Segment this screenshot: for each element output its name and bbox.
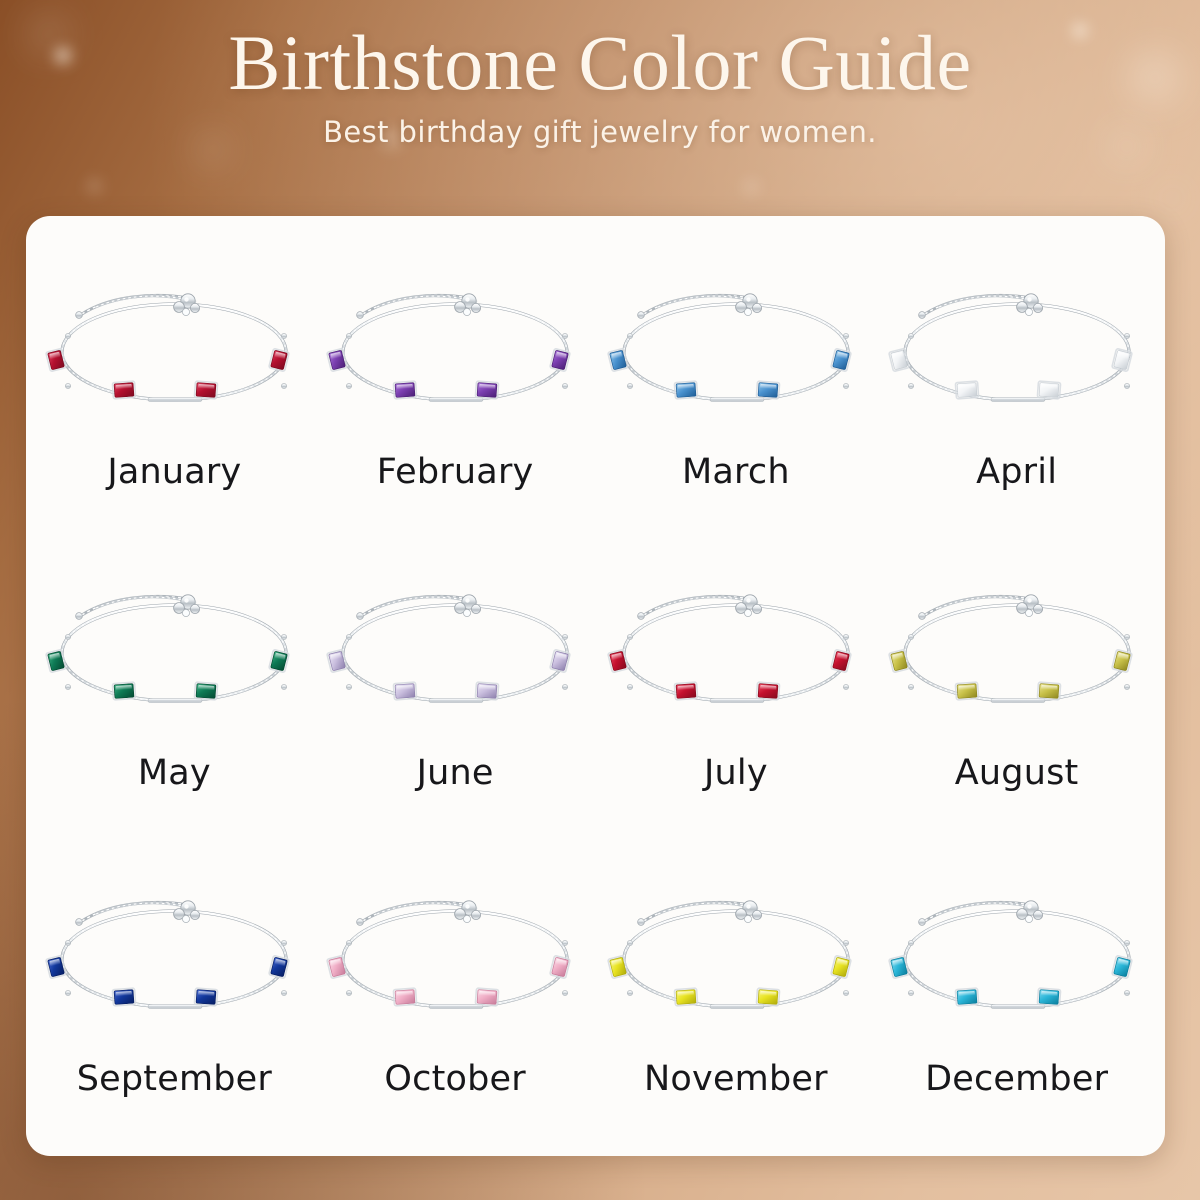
birthstone-color-guide-page: Birthstone Color Guide Best birthday gif… bbox=[0, 0, 1200, 1200]
aquamarine-blue-stone-bracelet-image bbox=[600, 274, 872, 424]
sapphire-blue-stone-bracelet-image bbox=[38, 881, 310, 1031]
birthstone-cell-february[interactable]: February bbox=[315, 230, 596, 535]
birthstone-cell-december[interactable]: December bbox=[876, 841, 1157, 1146]
page-header: Birthstone Color Guide Best birthday gif… bbox=[0, 22, 1200, 149]
month-label: February bbox=[377, 452, 534, 492]
birthstone-cell-march[interactable]: March bbox=[596, 230, 877, 535]
garnet-red-stone-bracelet-image bbox=[38, 274, 310, 424]
month-label: March bbox=[682, 452, 790, 492]
birthstone-cell-september[interactable]: September bbox=[34, 841, 315, 1146]
birthstone-cell-may[interactable]: May bbox=[34, 535, 315, 840]
month-label: January bbox=[107, 452, 241, 492]
page-title: Birthstone Color Guide bbox=[0, 22, 1200, 103]
month-label: August bbox=[955, 753, 1079, 793]
emerald-green-stone-bracelet-image bbox=[38, 575, 310, 725]
birthstone-cell-april[interactable]: April bbox=[876, 230, 1157, 535]
citrine-yellow-stone-bracelet-image bbox=[600, 881, 872, 1031]
month-label: April bbox=[976, 452, 1057, 492]
birthstone-card: JanuaryFebruaryMarchAprilMayJuneJulyAugu… bbox=[26, 216, 1165, 1156]
birthstone-cell-november[interactable]: November bbox=[596, 841, 877, 1146]
month-label: May bbox=[138, 753, 211, 793]
birthstone-cell-january[interactable]: January bbox=[34, 230, 315, 535]
birthstone-cell-august[interactable]: August bbox=[876, 535, 1157, 840]
ruby-red-stone-bracelet-image bbox=[600, 575, 872, 725]
amethyst-purple-stone-bracelet-image bbox=[319, 274, 591, 424]
birthstone-cell-june[interactable]: June bbox=[315, 535, 596, 840]
month-label: June bbox=[417, 753, 494, 793]
birthstone-cell-october[interactable]: October bbox=[315, 841, 596, 1146]
tourmaline-pink-stone-bracelet-image bbox=[319, 881, 591, 1031]
month-label: December bbox=[925, 1059, 1108, 1099]
page-subtitle: Best birthday gift jewelry for women. bbox=[0, 115, 1200, 149]
month-label: July bbox=[704, 753, 768, 793]
month-label: November bbox=[644, 1059, 828, 1099]
diamond-clear-stone-bracelet-image bbox=[881, 274, 1153, 424]
month-label: September bbox=[77, 1059, 272, 1099]
alexandrite-lavender-stone-bracelet-image bbox=[319, 575, 591, 725]
peridot-olive-stone-bracelet-image bbox=[881, 575, 1153, 725]
birthstone-cell-july[interactable]: July bbox=[596, 535, 877, 840]
month-label: October bbox=[384, 1059, 525, 1099]
topaz-turquoise-stone-bracelet-image bbox=[881, 881, 1153, 1031]
birthstone-grid: JanuaryFebruaryMarchAprilMayJuneJulyAugu… bbox=[26, 216, 1165, 1156]
